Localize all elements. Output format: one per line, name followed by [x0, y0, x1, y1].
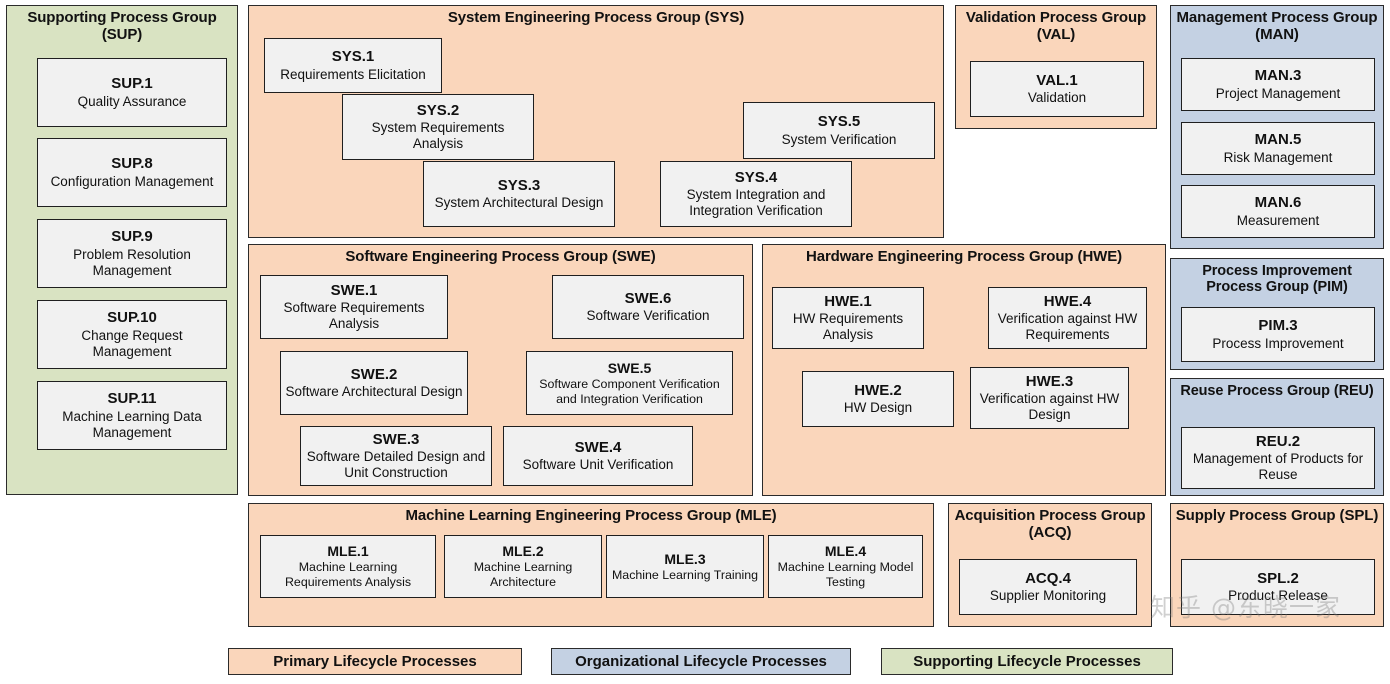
- process-hwe-3[interactable]: HWE.3 Verification against HW Design: [970, 367, 1129, 429]
- process-name: Verification against HW Design: [975, 391, 1124, 423]
- process-val-1[interactable]: VAL.1 Validation: [970, 61, 1144, 117]
- group-sup-title: Supporting Process Group (SUP): [7, 6, 237, 47]
- process-name: Configuration Management: [51, 174, 214, 190]
- legend-label: Supporting Lifecycle Processes: [913, 653, 1141, 670]
- process-name: Supplier Monitoring: [990, 588, 1106, 604]
- process-name: Validation: [1028, 90, 1086, 106]
- legend-organizational-lifecycle: Organizational Lifecycle Processes: [551, 648, 851, 675]
- group-reu: Reuse Process Group (REU) REU.2 Manageme…: [1170, 378, 1384, 496]
- process-pim-3[interactable]: PIM.3 Process Improvement: [1181, 307, 1375, 362]
- process-man-6[interactable]: MAN.6 Measurement: [1181, 185, 1375, 238]
- group-swe: Software Engineering Process Group (SWE)…: [248, 244, 753, 496]
- group-hwe-title: Hardware Engineering Process Group (HWE): [763, 245, 1165, 269]
- process-swe-1[interactable]: SWE.1 Software Requirements Analysis: [260, 275, 448, 339]
- process-id: MLE.3: [664, 551, 705, 567]
- group-man: Management Process Group (MAN) MAN.3 Pro…: [1170, 5, 1384, 249]
- process-name: Machine Learning Requirements Analysis: [265, 560, 431, 589]
- process-name: Software Component Verification and Inte…: [531, 377, 728, 406]
- process-swe-5[interactable]: SWE.5 Software Component Verification an…: [526, 351, 733, 415]
- process-man-5[interactable]: MAN.5 Risk Management: [1181, 122, 1375, 175]
- process-mle-3[interactable]: MLE.3 Machine Learning Training: [606, 535, 764, 598]
- group-acq-title: Acquisition Process Group (ACQ): [949, 504, 1151, 545]
- group-reu-title: Reuse Process Group (REU): [1171, 379, 1383, 402]
- process-id: SWE.4: [575, 439, 622, 456]
- process-id: ACQ.4: [1025, 570, 1071, 587]
- process-name: Quality Assurance: [78, 94, 187, 110]
- process-swe-3[interactable]: SWE.3 Software Detailed Design and Unit …: [300, 426, 492, 486]
- process-name: Measurement: [1237, 213, 1320, 229]
- process-hwe-4[interactable]: HWE.4 Verification against HW Requiremen…: [988, 287, 1147, 349]
- group-sup: Supporting Process Group (SUP) SUP.1 Qua…: [6, 5, 238, 495]
- process-sys-2[interactable]: SYS.2 System Requirements Analysis: [342, 94, 534, 160]
- process-id: SUP.9: [111, 228, 152, 245]
- process-id: SUP.8: [111, 155, 152, 172]
- group-val: Validation Process Group (VAL) VAL.1 Val…: [955, 5, 1157, 129]
- process-hwe-1[interactable]: HWE.1 HW Requirements Analysis: [772, 287, 924, 349]
- process-id: SWE.3: [373, 431, 420, 448]
- process-name: Problem Resolution Management: [42, 247, 222, 279]
- process-id: HWE.3: [1026, 373, 1074, 390]
- process-name: System Integration and Integration Verif…: [665, 187, 847, 219]
- process-mle-4[interactable]: MLE.4 Machine Learning Model Testing: [768, 535, 923, 598]
- process-name: Management of Products for Reuse: [1186, 451, 1370, 483]
- group-val-title: Validation Process Group (VAL): [956, 6, 1156, 47]
- process-mle-1[interactable]: MLE.1 Machine Learning Requirements Anal…: [260, 535, 436, 598]
- group-sys-title: System Engineering Process Group (SYS): [249, 6, 943, 30]
- process-id: SYS.3: [498, 177, 541, 194]
- process-reu-2[interactable]: REU.2 Management of Products for Reuse: [1181, 427, 1375, 489]
- process-swe-6[interactable]: SWE.6 Software Verification: [552, 275, 744, 339]
- group-mle: Machine Learning Engineering Process Gro…: [248, 503, 934, 627]
- group-swe-title: Software Engineering Process Group (SWE): [249, 245, 752, 269]
- process-man-3[interactable]: MAN.3 Project Management: [1181, 58, 1375, 111]
- process-id: SPL.2: [1257, 570, 1299, 587]
- process-name: Machine Learning Training: [612, 568, 758, 583]
- process-name: Software Architectural Design: [285, 384, 462, 400]
- process-sys-3[interactable]: SYS.3 System Architectural Design: [423, 161, 615, 227]
- group-sys: System Engineering Process Group (SYS) S…: [248, 5, 944, 238]
- process-sys-1[interactable]: SYS.1 Requirements Elicitation: [264, 38, 442, 93]
- process-acq-4[interactable]: ACQ.4 Supplier Monitoring: [959, 559, 1137, 615]
- process-name: Change Request Management: [42, 328, 222, 360]
- process-id: SYS.4: [735, 169, 778, 186]
- process-id: VAL.1: [1036, 72, 1077, 89]
- group-man-title: Management Process Group (MAN): [1171, 6, 1383, 47]
- process-sys-5[interactable]: SYS.5 System Verification: [743, 102, 935, 159]
- process-sup-11[interactable]: SUP.11 Machine Learning Data Management: [37, 381, 227, 450]
- process-id: MLE.4: [825, 543, 866, 559]
- process-name: Process Improvement: [1212, 336, 1343, 352]
- legend-label: Organizational Lifecycle Processes: [575, 653, 827, 670]
- process-name: HW Design: [844, 400, 912, 416]
- process-sup-1[interactable]: SUP.1 Quality Assurance: [37, 58, 227, 127]
- group-pim-title: Process Improvement Process Group (PIM): [1171, 259, 1383, 298]
- process-id: MAN.5: [1255, 131, 1302, 148]
- process-sup-10[interactable]: SUP.10 Change Request Management: [37, 300, 227, 369]
- process-name: Software Verification: [586, 308, 709, 324]
- process-name: Requirements Elicitation: [280, 67, 426, 83]
- process-id: MAN.6: [1255, 194, 1302, 211]
- group-spl-title: Supply Process Group (SPL): [1171, 504, 1383, 528]
- process-name: Risk Management: [1224, 150, 1333, 166]
- process-id: MLE.1: [327, 543, 368, 559]
- process-name: Machine Learning Model Testing: [773, 560, 918, 589]
- process-sys-4[interactable]: SYS.4 System Integration and Integration…: [660, 161, 852, 227]
- process-id: SWE.2: [351, 366, 398, 383]
- process-id: SUP.1: [111, 75, 152, 92]
- process-mle-2[interactable]: MLE.2 Machine Learning Architecture: [444, 535, 602, 598]
- process-name: Verification against HW Requirements: [993, 311, 1142, 343]
- group-spl: Supply Process Group (SPL) SPL.2 Product…: [1170, 503, 1384, 627]
- process-hwe-2[interactable]: HWE.2 HW Design: [802, 371, 954, 427]
- process-name: Software Requirements Analysis: [265, 300, 443, 332]
- process-sup-8[interactable]: SUP.8 Configuration Management: [37, 138, 227, 207]
- process-name: Machine Learning Data Management: [42, 409, 222, 441]
- legend-primary-lifecycle: Primary Lifecycle Processes: [228, 648, 522, 675]
- process-id: SWE.5: [608, 360, 652, 376]
- process-id: HWE.2: [854, 382, 902, 399]
- process-swe-4[interactable]: SWE.4 Software Unit Verification: [503, 426, 693, 486]
- process-id: SUP.10: [107, 309, 157, 326]
- process-name: System Architectural Design: [435, 195, 604, 211]
- group-acq: Acquisition Process Group (ACQ) ACQ.4 Su…: [948, 503, 1152, 627]
- process-id: SWE.1: [331, 282, 378, 299]
- process-id: SYS.2: [417, 102, 460, 119]
- process-name: Machine Learning Architecture: [449, 560, 597, 589]
- process-id: SYS.1: [332, 48, 375, 65]
- process-swe-2[interactable]: SWE.2 Software Architectural Design: [280, 351, 468, 415]
- process-name: HW Requirements Analysis: [777, 311, 919, 343]
- process-id: REU.2: [1256, 433, 1300, 450]
- process-name: System Verification: [782, 132, 897, 148]
- process-name: Software Unit Verification: [523, 457, 674, 473]
- process-name: Project Management: [1216, 86, 1341, 102]
- process-id: HWE.1: [824, 293, 872, 310]
- process-name: System Requirements Analysis: [347, 120, 529, 152]
- process-id: MLE.2: [502, 543, 543, 559]
- process-sup-9[interactable]: SUP.9 Problem Resolution Management: [37, 219, 227, 288]
- process-name: Software Detailed Design and Unit Constr…: [305, 449, 487, 481]
- process-id: PIM.3: [1258, 317, 1297, 334]
- group-mle-title: Machine Learning Engineering Process Gro…: [249, 504, 933, 528]
- process-id: SYS.5: [818, 113, 861, 130]
- process-id: MAN.3: [1255, 67, 1302, 84]
- process-name: Product Release: [1228, 588, 1328, 604]
- process-id: HWE.4: [1044, 293, 1092, 310]
- process-id: SWE.6: [625, 290, 672, 307]
- group-hwe: Hardware Engineering Process Group (HWE)…: [762, 244, 1166, 496]
- process-id: SUP.11: [108, 390, 157, 407]
- legend-supporting-lifecycle: Supporting Lifecycle Processes: [881, 648, 1173, 675]
- legend-label: Primary Lifecycle Processes: [273, 653, 476, 670]
- diagram-canvas: Supporting Process Group (SUP) SUP.1 Qua…: [0, 0, 1390, 684]
- process-spl-2[interactable]: SPL.2 Product Release: [1181, 559, 1375, 615]
- group-pim: Process Improvement Process Group (PIM) …: [1170, 258, 1384, 370]
